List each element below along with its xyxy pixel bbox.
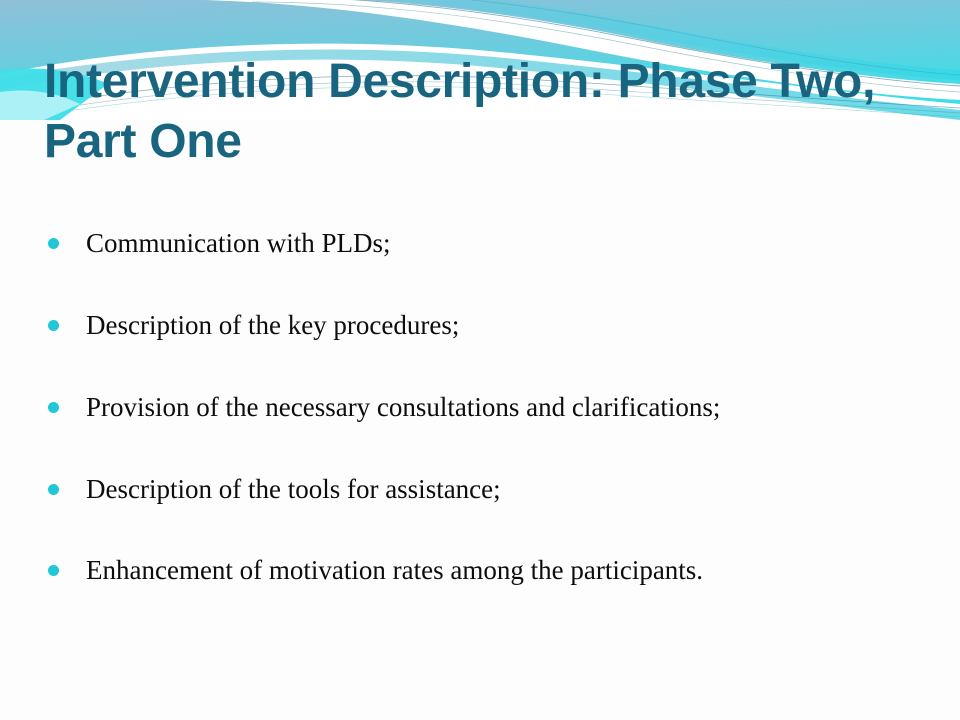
bullet-dot-icon — [48, 565, 59, 576]
bullet-dot-icon — [48, 402, 59, 413]
list-item: Description of the key procedures; — [48, 310, 928, 342]
list-item: Provision of the necessary consultations… — [48, 392, 928, 424]
slide: Intervention Description: Phase Two, Par… — [0, 0, 960, 720]
page-title: Intervention Description: Phase Two, Par… — [44, 52, 904, 172]
bullet-dot-icon — [48, 484, 59, 495]
title-block: Intervention Description: Phase Two, Par… — [44, 52, 904, 172]
list-item: Enhancement of motivation rates among th… — [48, 555, 928, 587]
list-item: Description of the tools for assistance; — [48, 474, 928, 506]
bullet-text: Enhancement of motivation rates among th… — [86, 555, 928, 587]
list-item: Communication with PLDs; — [48, 228, 928, 260]
bullet-text: Communication with PLDs; — [86, 228, 928, 260]
bullet-dot-icon — [48, 238, 59, 249]
bullet-text: Description of the tools for assistance; — [86, 474, 928, 506]
bullet-dot-icon — [48, 320, 59, 331]
bullet-text: Provision of the necessary consultations… — [86, 392, 928, 424]
bullet-list: Communication with PLDs; Description of … — [48, 228, 928, 587]
bullet-text: Description of the key procedures; — [86, 310, 928, 342]
